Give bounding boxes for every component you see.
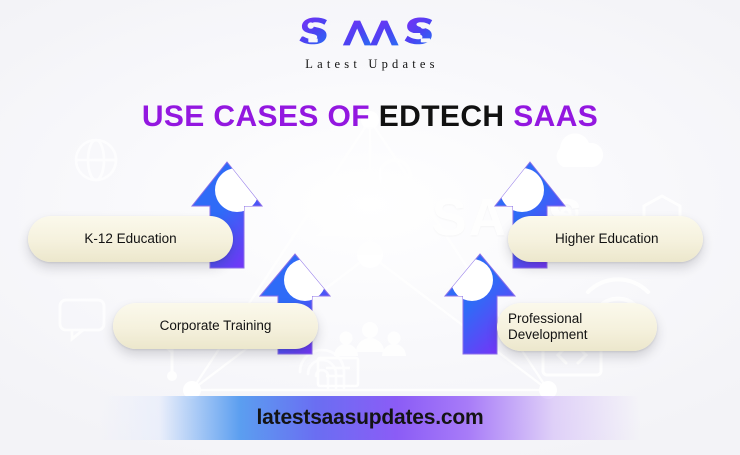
use-case-label-corporate-training[interactable]: Corporate Training	[113, 303, 318, 349]
use-case-label-text-line2: Development	[508, 327, 588, 343]
chat-icon	[60, 300, 104, 339]
use-case-label-higher-education[interactable]: Higher Education	[508, 216, 703, 262]
logo-tagline: Latest Updates	[301, 57, 438, 72]
use-case-label-k12[interactable]: K-12 Education	[28, 216, 233, 262]
title-part-2: EDTECH	[379, 100, 513, 133]
magnifier-icon	[380, 160, 418, 200]
brand-logo: Latest Updates	[0, 8, 740, 72]
use-case-label-text: K-12 Education	[84, 231, 176, 247]
footer-url-bar[interactable]: latestsaasupdates.com	[100, 396, 640, 440]
globe-icon	[76, 140, 116, 180]
saas-logo-icon	[296, 8, 444, 56]
use-case-label-text: Higher Education	[555, 231, 659, 247]
use-case-label-text-line1: Professional	[508, 311, 588, 327]
use-case-label-professional-development[interactable]: Professional Development	[497, 303, 657, 351]
use-case-label-text: Corporate Training	[160, 318, 272, 334]
footer-url-text: latestsaasupdates.com	[257, 406, 484, 430]
title-part-1: USE CASES OF	[142, 100, 379, 133]
people-icon	[334, 322, 406, 356]
document-icon	[318, 358, 358, 386]
laptop-lock-icon	[316, 192, 388, 236]
page-title: USE CASES OF EDTECH SAAS	[0, 100, 740, 134]
infographic-canvas: SAAS	[0, 0, 740, 455]
title-part-3: SAAS	[513, 100, 598, 133]
